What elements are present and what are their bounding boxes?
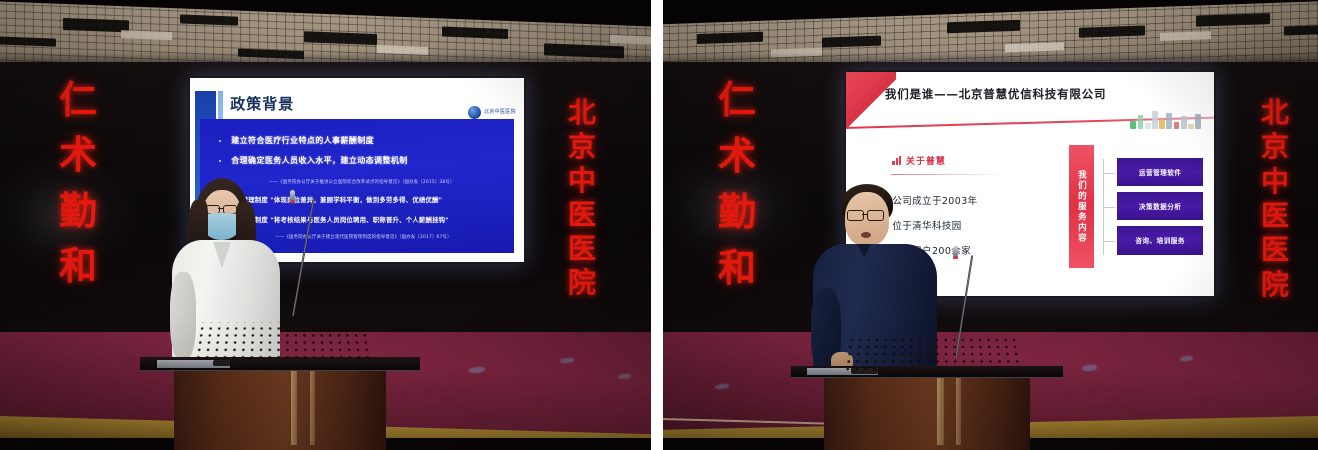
microphone-ring [290,200,295,203]
glasses-left-lens [847,210,864,221]
podium-perforated-panel [190,323,375,363]
calligraphy-char: 京 [1261,133,1289,161]
calligraphy-char: 医 [1261,236,1289,264]
calligraphy-char: 医 [568,201,596,229]
coat-lapel [213,242,231,268]
service-box: 运营管理软件 [1117,158,1203,187]
wall-calligraphy-left-a: 仁 术 勤 和 [48,72,108,294]
services-banner: 我们的服务内容 [1069,145,1094,268]
microphone-ring [953,256,958,259]
calligraphy-char: 医 [568,235,596,263]
calligraphy-char: 勤 [59,192,97,230]
calligraphy-char: 和 [718,249,756,287]
face-mask [203,213,240,240]
calligraphy-char: 北 [568,99,596,127]
calligraphy-char: 勤 [718,193,756,231]
photo-left: 仁 术 勤 和 北 京 中 医 医 院 1 政策背景 北京中医医院 [0,0,651,450]
calligraphy-char: 仁 [59,81,97,119]
slide-section-heading: 关于普慧 [892,154,946,167]
polo-collar [857,244,871,258]
photo-right: 仁 术 勤 和 北 京 中 医 医 院 我们是谁——北京普慧优信科技有限公司 [663,0,1318,450]
conference-photo-pair: 仁 术 勤 和 北 京 中 医 医 院 1 政策背景 北京中医医院 [0,0,1318,450]
calligraphy-char: 术 [59,136,97,174]
calligraphy-char: 中 [568,167,596,195]
podium-left [140,300,420,450]
calligraphy-char: 京 [568,133,596,161]
slide-section-underline [891,174,1003,175]
bar-chart-icon [892,156,901,165]
wall-calligraphy-right-a: 仁 术 勤 和 [707,72,767,296]
calligraphy-char: 术 [718,137,756,175]
calligraphy-char: 院 [1261,271,1289,299]
calligraphy-char: 医 [1261,202,1289,230]
calligraphy-char: 院 [568,269,596,297]
calligraphy-char: 中 [1261,168,1289,196]
calligraphy-char: 仁 [718,81,756,119]
service-box-label: 运营管理软件 [1139,167,1182,177]
service-box-label: 咨询、培训服务 [1135,235,1185,245]
slide-section-label: 关于普慧 [906,154,946,167]
calligraphy-char: 北 [1261,99,1289,127]
glasses-bridge [218,208,223,209]
slide-title: 我们是谁——北京普慧优信科技有限公司 [885,86,1106,102]
hospital-logo-icon [468,106,481,119]
calligraphy-char: 和 [59,247,97,285]
wall-calligraphy-right-b: 北 京 中 医 医 院 [1251,96,1299,302]
podium-perforated-panel [840,334,1020,371]
slide-bullet: 建立符合医疗行业特点的人事薪酬制度 [231,135,374,146]
slide-bullet: 合理确定医务人员收入水平，建立动态调整机制 [231,155,407,166]
hospital-logo-text: 北京中医医院 [484,109,516,116]
slide-citation: ——《国务院办公厅关于建立现代医院管理制度的指导意见》（国办发〔2017〕67号… [275,234,451,240]
decorative-bar-chart [1130,106,1201,129]
services-banner-label: 我们的服务内容 [1075,170,1087,244]
service-box-label: 决策数据分析 [1139,201,1182,211]
hospital-logo: 北京中医医院 [468,106,516,119]
service-box: 咨询、培训服务 [1117,226,1203,255]
glasses-right-lens [867,210,884,221]
panel-separator [651,0,663,450]
slide-title: 政策背景 [230,93,294,114]
glasses-bridge [862,214,867,215]
service-box: 决策数据分析 [1117,192,1203,221]
podium-right [791,314,1063,450]
wall-calligraphy-left-b: 北 京 中 医 医 院 [558,96,606,300]
mouth [861,232,871,238]
